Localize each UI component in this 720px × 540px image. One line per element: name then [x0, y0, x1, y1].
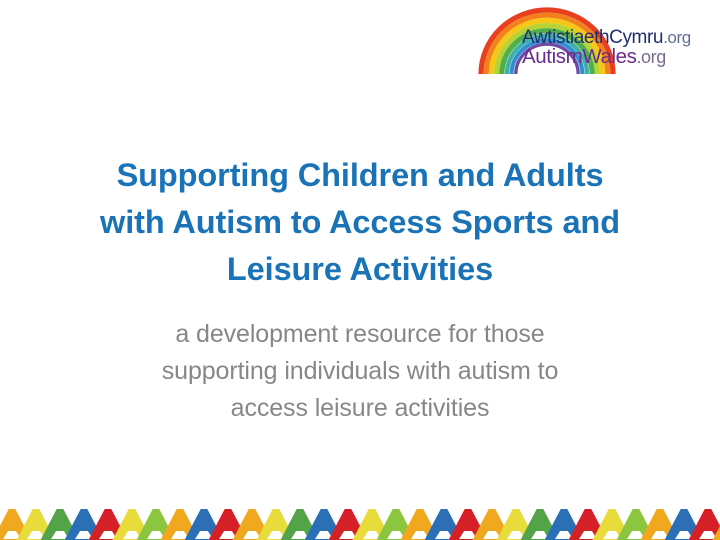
autism-wales-logo[interactable]: AwtistiaethCymru.org AutismWales.org	[474, 4, 714, 84]
subtitle-line-3: access leisure activities	[100, 390, 620, 427]
subtitle-line-1: a development resource for those	[100, 316, 620, 353]
title-slide: AwtistiaethCymru.org AutismWales.org Sup…	[0, 0, 720, 540]
title-line-1: Supporting Children and Adults	[60, 152, 660, 199]
logo-english-line: AutismWales.org	[522, 47, 718, 68]
subtitle-line-2: supporting individuals with autism to	[100, 353, 620, 390]
logo-english-tld: .org	[636, 47, 665, 67]
title-line-3: Leisure Activities	[60, 246, 660, 293]
page-subtitle: a development resource for those support…	[100, 316, 620, 427]
logo-english-name: AutismWales	[522, 45, 636, 68]
decorative-letter-a-band	[0, 506, 720, 540]
logo-wordmark: AwtistiaethCymru.org AutismWales.org	[522, 28, 718, 68]
page-title: Supporting Children and Adults with Auti…	[60, 152, 660, 293]
logo-welsh-tld: .org	[663, 28, 691, 47]
title-line-2: with Autism to Access Sports and	[60, 199, 660, 246]
